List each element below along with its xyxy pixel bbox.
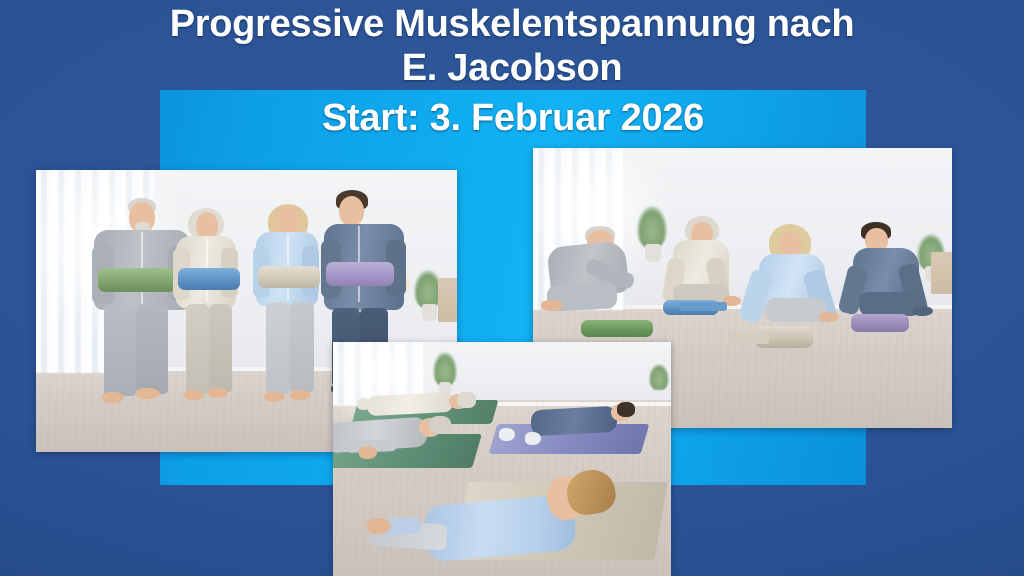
foot-left — [264, 392, 285, 402]
yoga-mat-roll — [326, 262, 394, 286]
hair — [617, 402, 635, 417]
feet — [357, 398, 371, 410]
torso — [530, 406, 617, 436]
leg-right — [209, 304, 232, 392]
cabinet — [931, 252, 952, 294]
leg-kneeling — [859, 292, 921, 316]
foot-left — [102, 392, 124, 403]
plant — [649, 364, 669, 390]
slide-title-block: Progressive Muskelentspannung nach E. Ja… — [0, 2, 1024, 90]
yoga-mat-roll — [178, 268, 240, 290]
foot-right — [290, 390, 311, 400]
foot — [541, 300, 563, 311]
leg-right — [136, 306, 168, 394]
feet — [499, 428, 515, 441]
head — [339, 196, 364, 226]
hair — [429, 416, 451, 434]
foot-right — [136, 388, 160, 399]
head — [278, 208, 300, 235]
yoga-mat-unrolled — [679, 302, 727, 311]
head — [196, 212, 218, 239]
photo-lying-relaxation — [333, 342, 671, 576]
yoga-mat-roll — [98, 268, 176, 292]
feet — [525, 432, 541, 445]
yoga-mat-unrolled — [729, 332, 769, 344]
yoga-mat-roll — [258, 266, 320, 288]
yoga-mat-roll — [581, 320, 653, 337]
leg-left — [266, 302, 290, 394]
studio-room-background — [333, 342, 671, 576]
foot — [819, 312, 839, 322]
hand — [367, 518, 391, 534]
foot-right — [208, 388, 228, 398]
plant-pot — [645, 244, 661, 262]
leg-kneeling — [765, 298, 827, 322]
hair — [457, 392, 476, 408]
foot-left — [184, 390, 204, 400]
yoga-mat-roll — [851, 314, 909, 332]
title-line-2: E. Jacobson — [0, 46, 1024, 90]
title-line-1: Progressive Muskelentspannung nach — [0, 2, 1024, 46]
hand — [359, 446, 377, 459]
cabinet — [438, 278, 457, 322]
leg-left — [186, 304, 209, 394]
plant — [433, 352, 457, 386]
foot — [913, 306, 933, 316]
leg-right — [290, 302, 314, 392]
plant — [637, 206, 667, 248]
leg-left — [104, 306, 136, 396]
plant-pot — [422, 304, 437, 321]
presentation-slide: Progressive Muskelentspannung nach E. Ja… — [0, 0, 1024, 576]
